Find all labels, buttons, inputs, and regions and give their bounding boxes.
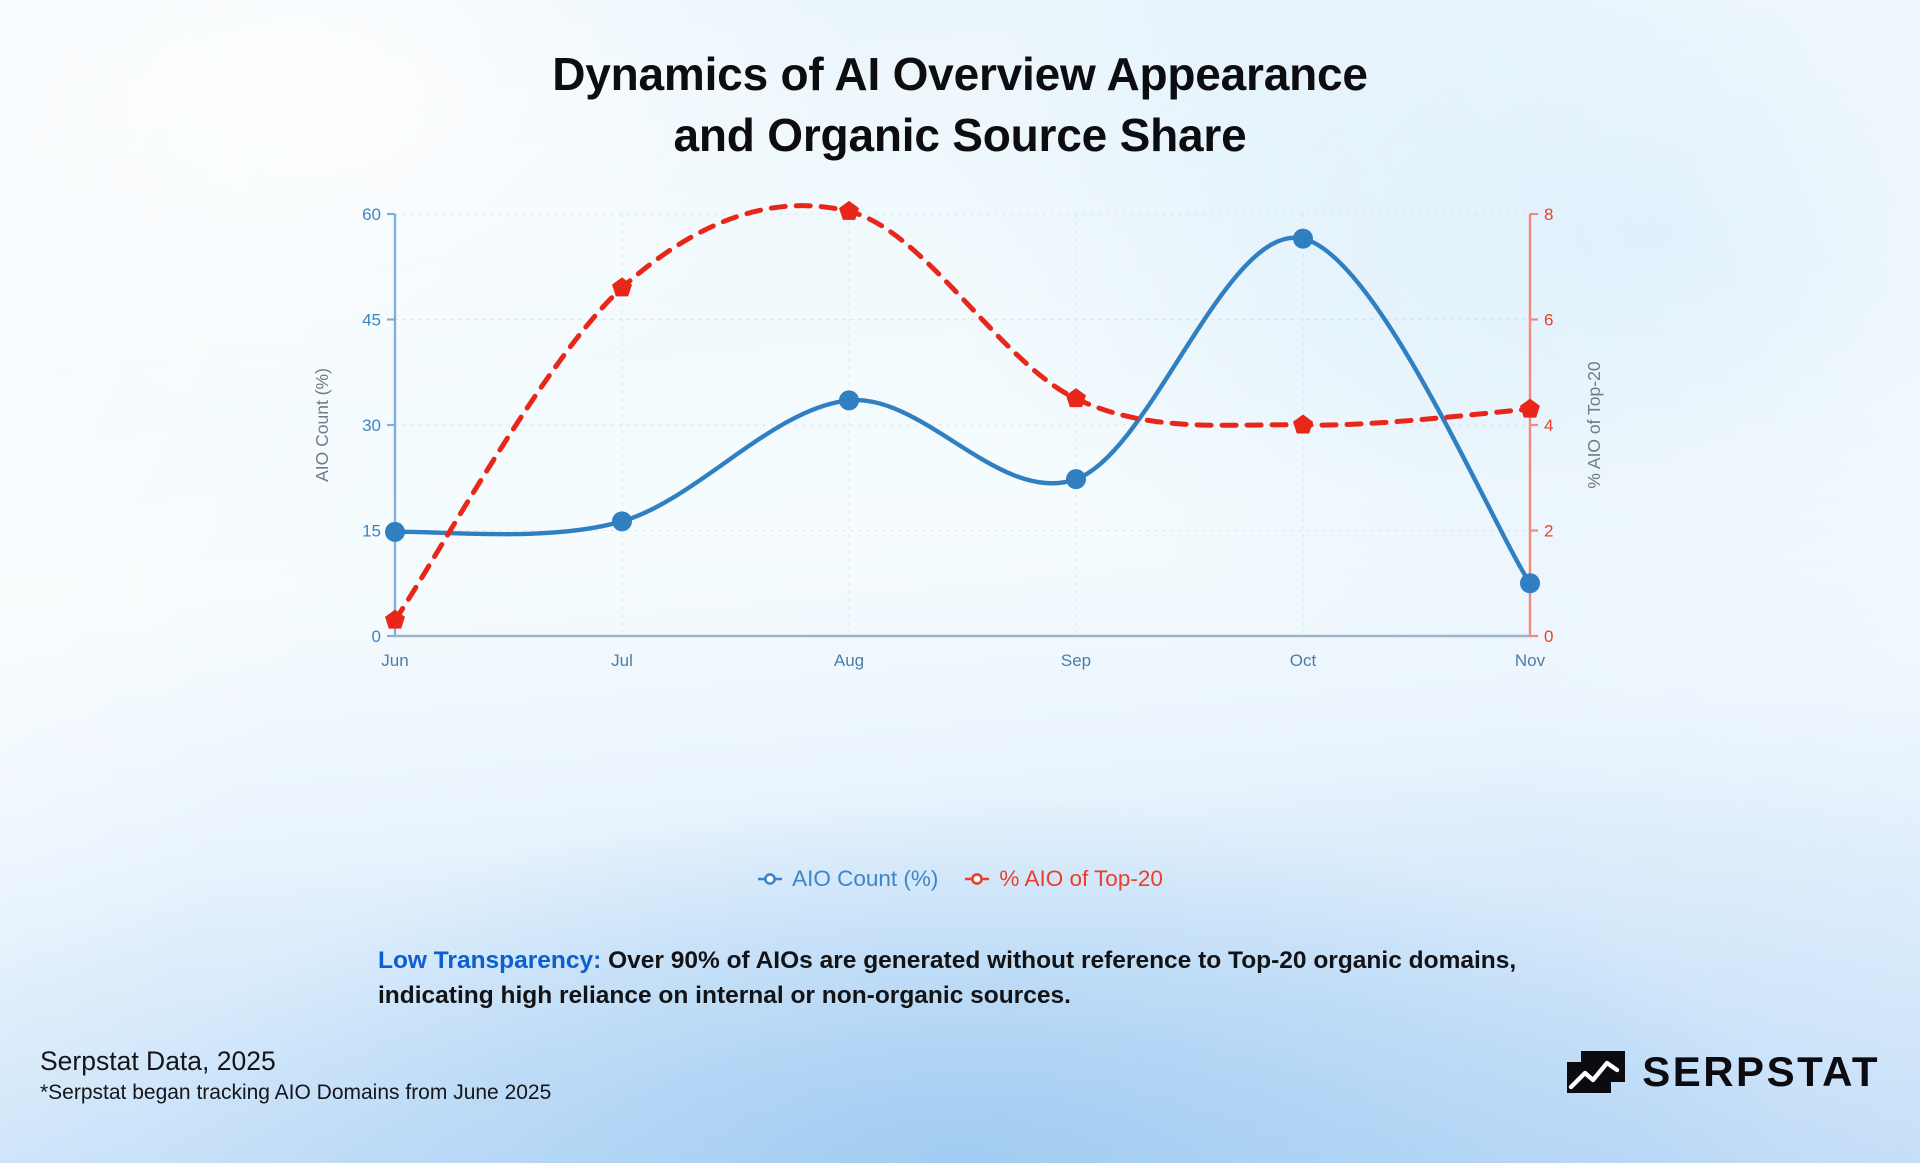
serpstat-mark-icon <box>1565 1049 1627 1095</box>
svg-text:Oct: Oct <box>1290 651 1317 670</box>
chart-container: 01530456002468JunJulAugSepOctNovAIO Coun… <box>300 196 1630 756</box>
legend-marker-icon <box>964 872 990 886</box>
svg-text:30: 30 <box>362 416 381 435</box>
svg-text:0: 0 <box>372 627 381 646</box>
caption-highlight: Low Transparency: <box>378 947 601 974</box>
legend-item-aio-count[interactable]: AIO Count (%) <box>757 866 938 892</box>
svg-text:Nov: Nov <box>1515 651 1546 670</box>
svg-text:Jul: Jul <box>611 651 633 670</box>
dual-axis-line-chart: 01530456002468JunJulAugSepOctNovAIO Coun… <box>300 196 1630 756</box>
page-title: Dynamics of AI Overview Appearance and O… <box>0 44 1920 165</box>
svg-text:Aug: Aug <box>834 651 864 670</box>
svg-text:4: 4 <box>1544 416 1553 435</box>
legend-item-aio-top20[interactable]: % AIO of Top-20 <box>964 866 1162 892</box>
svg-text:Jun: Jun <box>381 651 408 670</box>
svg-text:45: 45 <box>362 311 381 330</box>
svg-text:15: 15 <box>362 522 381 541</box>
title-line-1: Dynamics of AI Overview Appearance <box>552 48 1368 100</box>
title-line-2: and Organic Source Share <box>0 105 1920 166</box>
footer: Serpstat Data, 2025 *Serpstat began trac… <box>40 1046 551 1107</box>
svg-text:0: 0 <box>1544 627 1553 646</box>
svg-text:2: 2 <box>1544 522 1553 541</box>
svg-text:Sep: Sep <box>1061 651 1091 670</box>
serpstat-logo[interactable]: SERPSTAT <box>1565 1048 1880 1096</box>
footer-source: Serpstat Data, 2025 <box>40 1046 551 1077</box>
svg-text:8: 8 <box>1544 205 1553 224</box>
footer-note: *Serpstat began tracking AIO Domains fro… <box>40 1080 551 1106</box>
svg-text:% AIO of Top-20: % AIO of Top-20 <box>1584 361 1604 488</box>
serpstat-wordmark: SERPSTAT <box>1642 1048 1880 1096</box>
caption-text: Low Transparency: Over 90% of AIOs are g… <box>378 944 1558 1014</box>
svg-text:6: 6 <box>1544 311 1553 330</box>
svg-text:60: 60 <box>362 205 381 224</box>
legend-label: % AIO of Top-20 <box>999 866 1162 892</box>
svg-text:AIO Count (%): AIO Count (%) <box>312 368 332 482</box>
chart-legend: AIO Count (%) % AIO of Top-20 <box>0 866 1920 892</box>
legend-marker-icon <box>757 872 783 886</box>
legend-label: AIO Count (%) <box>792 866 938 892</box>
